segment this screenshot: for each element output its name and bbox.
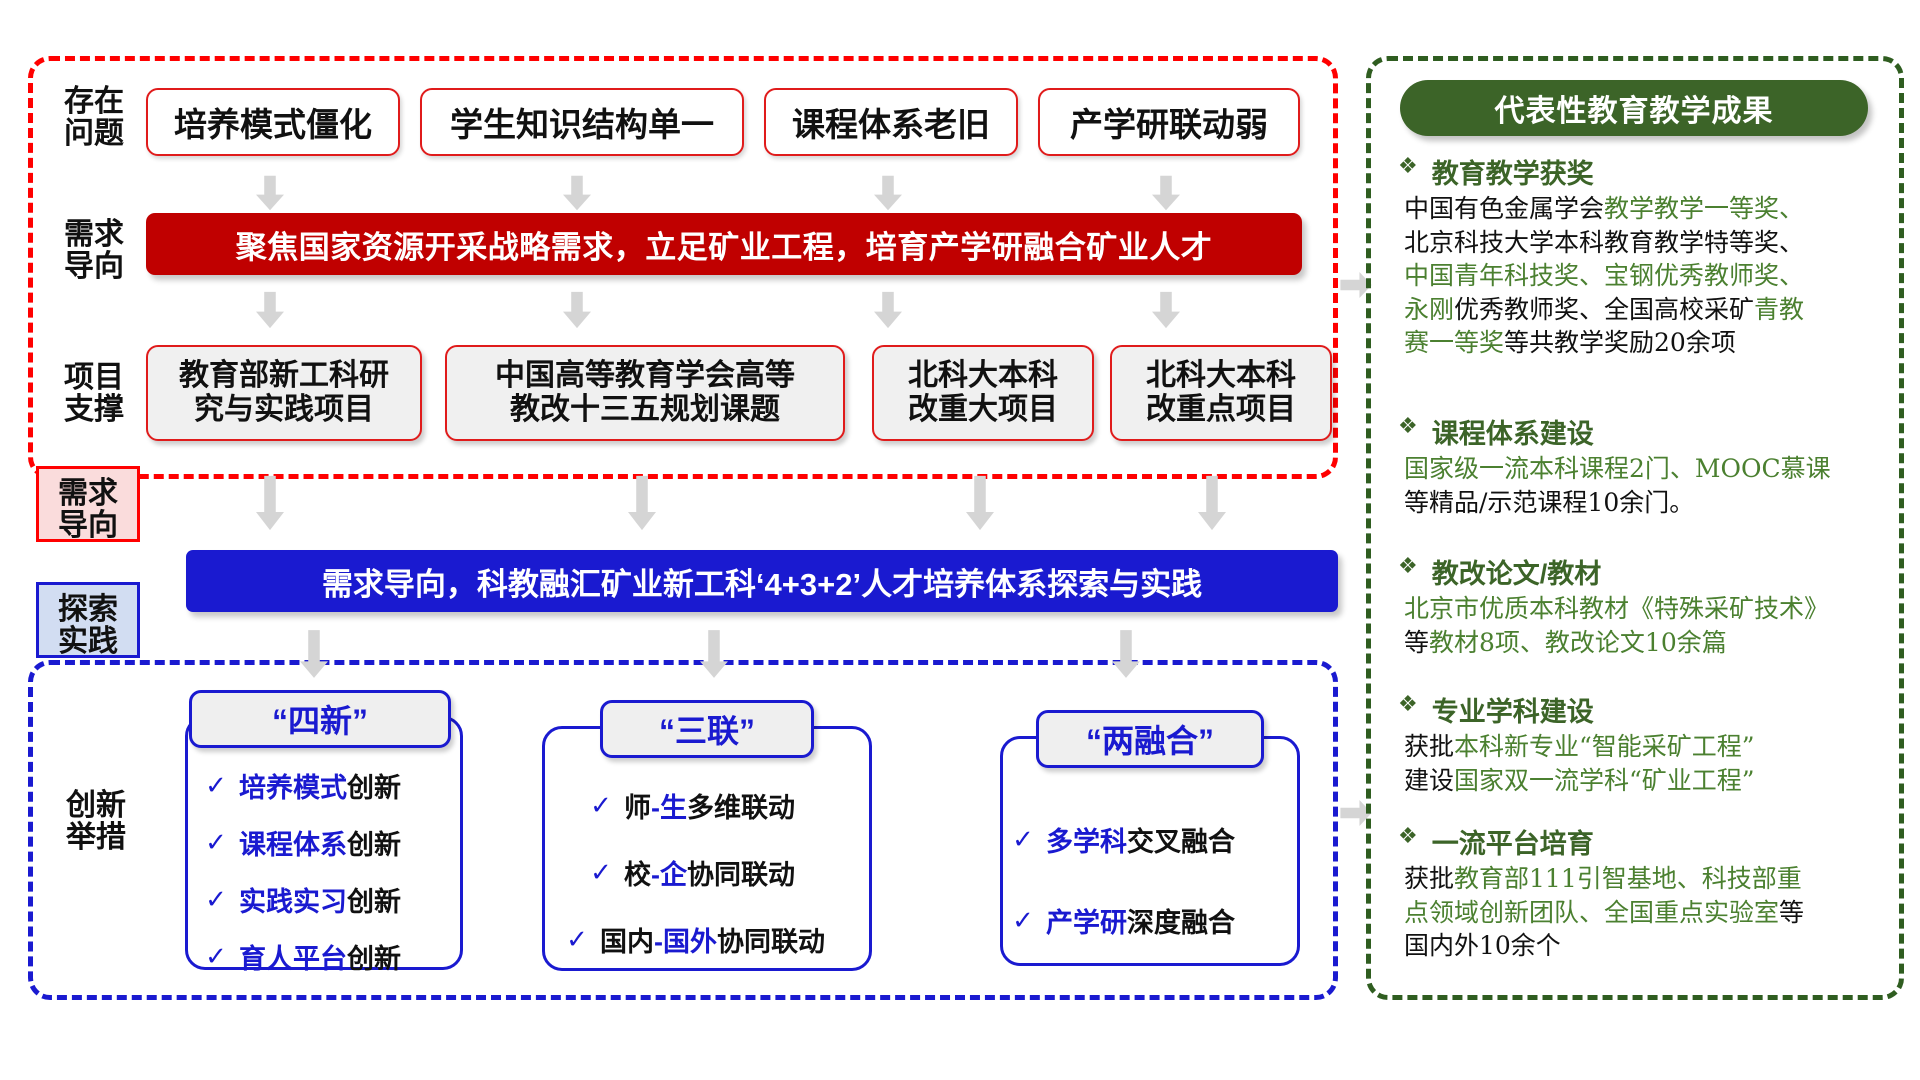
innovation-item-1-1-highlight: 培养模式 (239, 766, 347, 805)
achievement-body-3-line-2: 等教材8项、教改论文10余篇 (1404, 626, 1882, 660)
achievement-body-2: 国家级一流本科课程2门、MOOC慕课 等精品/示范课程10余门。 (1404, 452, 1882, 519)
seg: 点领域创新团队、全国重点实验室 (1404, 898, 1779, 927)
achievement-heading-4-label: 专业学科建设 (1432, 690, 1594, 729)
seg: 青教 (1754, 295, 1804, 324)
row-label-demand-line1: 需求 (64, 218, 124, 251)
project-box-3: 北科大本科改重大项目 (872, 345, 1094, 441)
achievement-heading-3: ❖ 教改论文/教材 (1398, 552, 1868, 591)
innovation-item-1-3-rest: 创新 (347, 880, 401, 919)
achievement-body-4-line-1: 获批本科新专业“智能采矿工程” (1404, 730, 1882, 764)
problem-box-1-label: 培养模式僵化 (174, 98, 372, 146)
project-box-4-label: 北科大本科改重点项目 (1146, 359, 1296, 427)
seg: 永刚 (1404, 295, 1454, 324)
innovation-group-1-title: “四新” (272, 696, 368, 742)
problem-box-4-label: 产学研联动弱 (1070, 98, 1268, 146)
side-chip-explore-practice: 探索实践 (36, 582, 140, 658)
innovation-group-1-items: ✓ 培养模式创新 ✓ 课程体系创新 ✓ 实践实习创新 ✓ 育人平台创新 (205, 766, 455, 976)
arrow-down-icon-p2 (563, 172, 591, 219)
seg: 北京科技大学本科教育教学特等奖、 (1404, 228, 1804, 257)
seg: 国内外10余个 (1404, 931, 1561, 960)
achievement-body-3-line-1: 北京市优质本科教材《特殊采矿技术》 (1404, 592, 1882, 626)
seg: 建设 (1404, 766, 1454, 795)
achievement-body-5: 获批教育部111引智基地、科技部重 点领域创新团队、全国重点实验室等 国内外10… (1404, 862, 1882, 963)
seg: 等精品/示范课程10余门。 (1404, 488, 1694, 517)
innovation-group-3-items: ✓ 多学科交叉融合 ✓ 产学研深度融合 (1000, 820, 1300, 940)
row-label-project-support: 项目支撑 (46, 362, 142, 427)
side-chip-demand-oriented: 需求导向 (36, 466, 140, 542)
achievement-body-5-line-2: 点领域创新团队、全国重点实验室等 (1404, 896, 1882, 930)
achievement-heading-1-label: 教育教学获奖 (1432, 152, 1594, 191)
innovation-item-2-1-pre: 师 (624, 786, 651, 825)
blue-program-banner-label: 需求导向，科教融汇矿业新工科‘4+3+2’人才培养体系探索与实践 (322, 559, 1202, 604)
red-strategy-banner-label: 聚焦国家资源开采战略需求，立足矿业工程，培育产学研融合矿业人才 (236, 222, 1213, 267)
check-icon: ✓ (205, 884, 227, 915)
innovation-item-2-2: ✓ 校-企协同联动 (566, 853, 876, 892)
achievement-body-1-line-3: 中国青年科技奖、宝钢优秀教师奖、 (1404, 259, 1882, 293)
innovation-item-2-1-rest: 多维联动 (687, 786, 795, 825)
achievement-heading-2: ❖ 课程体系建设 (1398, 412, 1868, 451)
arrow-down-icon-i1 (300, 625, 328, 688)
row-label-demand: 需求导向 (46, 219, 142, 284)
achievements-title-label: 代表性教育教学成果 (1495, 86, 1774, 130)
innovation-item-2-3-pre: 国内 (600, 920, 654, 959)
project-box-1-label: 教育部新工科研究与实践项目 (179, 359, 389, 427)
check-icon: ✓ (205, 941, 227, 972)
achievement-body-2-line-2: 等精品/示范课程10余门。 (1404, 486, 1882, 520)
achievement-heading-1: ❖ 教育教学获奖 (1398, 152, 1868, 191)
innovation-item-3-2: ✓ 产学研深度融合 (1000, 901, 1300, 940)
seg: 等 (1779, 898, 1804, 927)
innovation-item-2-2-highlight: -企 (651, 853, 687, 892)
problem-box-4: 产学研联动弱 (1038, 88, 1300, 156)
project-box-3-label: 北科大本科改重大项目 (908, 359, 1058, 427)
check-icon: ✓ (590, 857, 612, 888)
seg: 获批 (1404, 732, 1454, 761)
check-icon: ✓ (205, 827, 227, 858)
row-label-project-line2: 支撑 (64, 393, 124, 426)
seg: 教育部111引智基地、科技部重 (1454, 864, 1802, 893)
seg: 赛一等奖 (1404, 328, 1504, 357)
seg: 中国有色金属学会 (1404, 194, 1604, 223)
seg: 等 (1404, 628, 1429, 657)
achievements-title-banner: 代表性教育教学成果 (1400, 80, 1868, 136)
achievement-heading-5: ❖ 一流平台培育 (1398, 822, 1868, 861)
project-box-4: 北科大本科改重点项目 (1110, 345, 1332, 441)
seg: 教材8项、教改论文10余篇 (1429, 628, 1727, 657)
innovation-group-1-header: “四新” (189, 690, 451, 748)
arrow-down-icon-j4 (1152, 288, 1180, 337)
innovation-item-1-2: ✓ 课程体系创新 (205, 823, 455, 862)
achievement-body-1-line-1: 中国有色金属学会教学教学一等奖、 (1404, 192, 1882, 226)
innovation-item-1-1: ✓ 培养模式创新 (205, 766, 455, 805)
innovation-item-2-1: ✓ 师-生多维联动 (566, 786, 876, 825)
diamond-bullet-icon: ❖ (1398, 690, 1418, 719)
achievement-body-3: 北京市优质本科教材《特殊采矿技术》 等教材8项、教改论文10余篇 (1404, 592, 1882, 659)
seg: 中国青年科技奖、宝钢优秀教师奖、 (1404, 261, 1804, 290)
achievement-body-1-line-4: 永刚优秀教师奖、全国高校采矿青教 (1404, 293, 1882, 327)
innovation-group-2-header: “三联” (600, 700, 814, 758)
innovation-item-2-3: ✓ 国内-国外协同联动 (566, 920, 876, 959)
achievement-body-5-line-1: 获批教育部111引智基地、科技部重 (1404, 862, 1882, 896)
blue-program-banner: 需求导向，科教融汇矿业新工科‘4+3+2’人才培养体系探索与实践 (186, 550, 1338, 612)
achievement-body-4-line-2: 建设国家双一流学科“矿业工程” (1404, 764, 1882, 798)
seg: 获批 (1404, 864, 1454, 893)
arrow-down-icon-p3 (874, 172, 902, 219)
innovation-item-1-4-highlight: 育人平台 (239, 937, 347, 976)
check-icon: ✓ (566, 924, 588, 955)
innovation-group-3-title: “两融合” (1086, 716, 1214, 762)
check-icon: ✓ (590, 790, 612, 821)
innovation-item-2-2-rest: 协同联动 (687, 853, 795, 892)
row-label-problems-line1: 存在 (64, 85, 124, 118)
innovation-item-1-4: ✓ 育人平台创新 (205, 937, 455, 976)
arrow-down-icon-b4 (1198, 470, 1226, 541)
innovation-item-2-3-highlight: -国外 (654, 920, 717, 959)
problem-box-2-label: 学生知识结构单一 (450, 98, 714, 146)
innovation-item-1-3-highlight: 实践实习 (239, 880, 347, 919)
achievement-heading-5-label: 一流平台培育 (1432, 822, 1594, 861)
problem-box-3: 课程体系老旧 (764, 88, 1018, 156)
innovation-item-1-3: ✓ 实践实习创新 (205, 880, 455, 919)
achievement-body-1-line-2: 北京科技大学本科教育教学特等奖、 (1404, 226, 1882, 260)
innovation-group-3-header: “两融合” (1036, 710, 1264, 768)
seg: 等共教学奖励20余项 (1504, 328, 1736, 357)
project-box-2-label: 中国高等教育学会高等教改十三五规划课题 (495, 359, 795, 427)
row-label-problems-line2: 问题 (64, 117, 124, 150)
innovation-item-2-2-pre: 校 (624, 853, 651, 892)
row-label-innovation-measures: 创新举措 (48, 790, 144, 855)
seg: 北京市优质本科教材《特殊采矿技术》 (1404, 594, 1829, 623)
achievement-body-1: 中国有色金属学会教学教学一等奖、 北京科技大学本科教育教学特等奖、 中国青年科技… (1404, 192, 1882, 360)
diamond-bullet-icon: ❖ (1398, 552, 1418, 581)
row-label-innovation-line1: 创新 (66, 789, 126, 822)
diamond-bullet-icon: ❖ (1398, 412, 1418, 441)
arrow-down-icon-j3 (874, 288, 902, 337)
seg: 本科新专业“智能采矿工程” (1454, 732, 1755, 761)
innovation-item-3-1: ✓ 多学科交叉融合 (1000, 820, 1300, 859)
problem-box-2: 学生知识结构单一 (420, 88, 744, 156)
innovation-item-3-2-highlight: 产学研 (1046, 901, 1127, 940)
row-label-problems: 存在问题 (46, 86, 142, 151)
project-box-1: 教育部新工科研究与实践项目 (146, 345, 422, 441)
achievement-body-1-line-5: 赛一等奖等共教学奖励20余项 (1404, 326, 1882, 360)
achievement-heading-3-label: 教改论文/教材 (1432, 552, 1602, 591)
check-icon: ✓ (1012, 824, 1034, 855)
innovation-item-2-3-rest: 协同联动 (717, 920, 825, 959)
arrow-down-icon-b3 (966, 470, 994, 541)
achievement-body-4: 获批本科新专业“智能采矿工程” 建设国家双一流学科“矿业工程” (1404, 730, 1882, 797)
check-icon: ✓ (205, 770, 227, 801)
side-chip-practice-line2: 实践 (58, 625, 118, 658)
innovation-item-1-4-rest: 创新 (347, 937, 401, 976)
row-label-project-line1: 项目 (64, 361, 124, 394)
diamond-bullet-icon: ❖ (1398, 152, 1418, 181)
red-strategy-banner: 聚焦国家资源开采战略需求，立足矿业工程，培育产学研融合矿业人才 (146, 213, 1302, 275)
problem-box-3-label: 课程体系老旧 (792, 98, 990, 146)
row-label-innovation-line2: 举措 (66, 821, 126, 854)
seg: 国家双一流学科“矿业工程” (1454, 766, 1755, 795)
diamond-bullet-icon: ❖ (1398, 822, 1418, 851)
side-chip-practice-line1: 探索 (58, 593, 118, 626)
seg: 优秀教师奖、全国高校采矿 (1454, 295, 1754, 324)
row-label-demand-line2: 导向 (64, 250, 124, 283)
innovation-item-3-1-highlight: 多学科 (1046, 820, 1127, 859)
innovation-item-1-2-highlight: 课程体系 (239, 823, 347, 862)
project-box-2: 中国高等教育学会高等教改十三五规划课题 (445, 345, 845, 441)
arrow-down-icon-j2 (563, 288, 591, 337)
achievement-body-2-line-1: 国家级一流本科课程2门、MOOC慕课 (1404, 452, 1882, 486)
arrow-down-icon-b2 (628, 470, 656, 541)
innovation-item-2-1-highlight: -生 (651, 786, 687, 825)
arrow-down-icon-i3 (1112, 625, 1140, 688)
seg: 国家级一流本科课程2门、MOOC慕课 (1404, 454, 1831, 483)
problem-box-1: 培养模式僵化 (146, 88, 400, 156)
innovation-item-3-2-rest: 深度融合 (1127, 901, 1235, 940)
innovation-item-3-1-rest: 交叉融合 (1127, 820, 1235, 859)
diagram-canvas: 存在问题 培养模式僵化 学生知识结构单一 课程体系老旧 产学研联动弱 需求导向 … (0, 0, 1920, 1080)
innovation-group-2-items: ✓ 师-生多维联动 ✓ 校-企协同联动 ✓ 国内-国外协同联动 (566, 786, 876, 959)
side-chip-demand-line1: 需求 (58, 477, 118, 510)
arrow-down-icon-p4 (1152, 172, 1180, 219)
achievement-heading-2-label: 课程体系建设 (1432, 412, 1594, 451)
arrow-down-icon-b1 (256, 470, 284, 541)
arrow-down-icon-p1 (256, 172, 284, 219)
achievement-heading-4: ❖ 专业学科建设 (1398, 690, 1868, 729)
innovation-group-2-title: “三联” (659, 706, 755, 752)
arrow-down-icon-j1 (256, 288, 284, 337)
achievement-body-5-line-3: 国内外10余个 (1404, 929, 1882, 963)
innovation-item-1-2-rest: 创新 (347, 823, 401, 862)
side-chip-demand-line2: 导向 (58, 509, 118, 542)
check-icon: ✓ (1012, 905, 1034, 936)
innovation-item-1-1-rest: 创新 (347, 766, 401, 805)
seg: 教学教学一等奖、 (1604, 194, 1804, 223)
arrow-down-icon-i2 (700, 625, 728, 688)
